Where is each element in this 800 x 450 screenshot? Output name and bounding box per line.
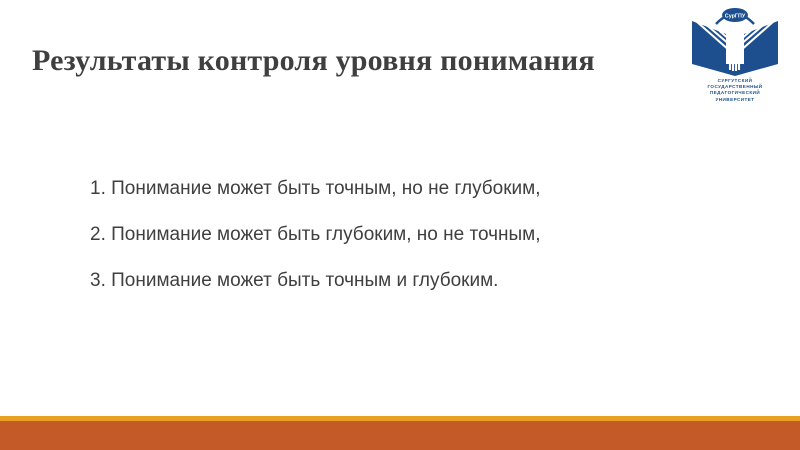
presentation-slide: Результаты контроля уровня понимания <box>0 0 800 450</box>
university-logo: СурГПУ СУРГУТСКИЙ ГОСУДАРСТВЕННЫЙ ПЕДАГО… <box>686 4 784 108</box>
emblem-badge-text: СурГПУ <box>725 14 746 20</box>
surgpu-emblem-icon: СурГПУ <box>686 4 784 76</box>
list-item: 2. Понимание может быть глубоким, но не … <box>90 212 710 258</box>
slide-title: Результаты контроля уровня понимания <box>32 42 652 80</box>
list-item: 3. Понимание может быть точным и глубоки… <box>90 258 710 304</box>
logo-caption-line-4: УНИВЕРСИТЕТ <box>686 97 784 103</box>
slide-body-list: 1. Понимание может быть точным, но не гл… <box>90 166 710 304</box>
list-item: 1. Понимание может быть точным, но не гл… <box>90 166 710 212</box>
footer-accent-bar-orange <box>0 421 800 450</box>
university-logo-caption: СУРГУТСКИЙ ГОСУДАРСТВЕННЫЙ ПЕДАГОГИЧЕСКИ… <box>686 78 784 103</box>
